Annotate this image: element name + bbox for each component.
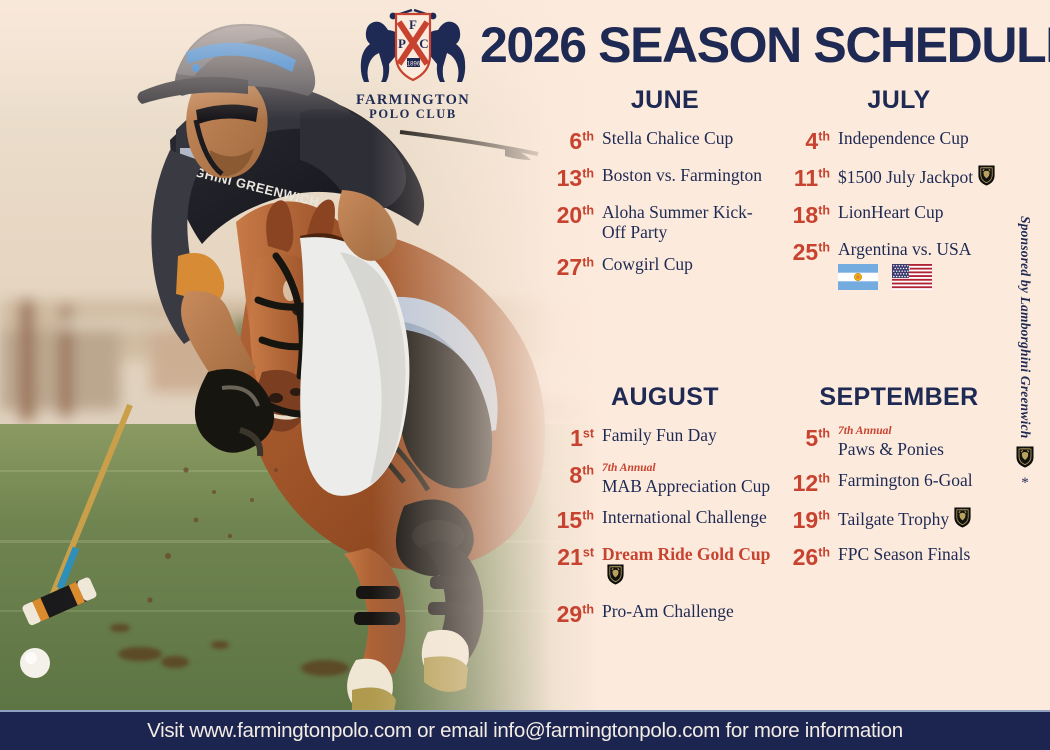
event-title-text: Boston vs. Farmington (602, 165, 762, 185)
event-title-text: International Challenge (602, 507, 767, 527)
event-day-suffix: th (582, 508, 594, 522)
event-day-suffix: th (582, 463, 594, 477)
event-body: Farmington 6-Goal (838, 470, 1012, 490)
event-day-suffix: th (818, 545, 830, 559)
flag-pair (838, 264, 1012, 295)
month-block-august: AUGUST 1stFamily Fun Day8th7th AnnualMAB… (540, 383, 776, 638)
event-day-number: 27 (557, 254, 583, 280)
schedule-event-row: 5th7th AnnualPaws & Ponies (780, 425, 1012, 459)
event-date: 20th (544, 202, 602, 228)
farmington-polo-club-crest: F P C 1896 FARMINGTON POLO CLUB (354, 8, 472, 120)
event-date: 21st (544, 544, 602, 570)
page-title: 2026 SEASON SCHEDULE (480, 20, 1040, 70)
svg-text:Lamborghini: Lamborghini (958, 509, 968, 511)
event-date: 12th (780, 470, 838, 496)
event-title-text: Independence Cup (838, 128, 969, 148)
event-annual-label: 7th Annual (838, 425, 1012, 438)
sponsor-text: Sponsored by Lamborghini Greenwich (1017, 216, 1033, 438)
month-name: JUNE (540, 86, 776, 115)
month-name: SEPTEMBER (776, 383, 1012, 412)
lamborghini-shield-icon: Lamborghini (953, 507, 972, 532)
event-body: Tailgate TrophyLamborghini (838, 507, 1012, 532)
event-title: Independence Cup (838, 128, 1012, 148)
event-title: Paws & Ponies (838, 439, 1012, 459)
event-day-suffix: st (583, 426, 594, 440)
month-name: AUGUST (540, 383, 776, 412)
schedule-event-row: 1stFamily Fun Day (544, 425, 776, 451)
event-title-text: Cowgirl Cup (602, 254, 693, 274)
event-day-number: 1 (570, 425, 583, 451)
event-day-suffix: th (582, 255, 594, 269)
event-list: 1stFamily Fun Day8th7th AnnualMAB Apprec… (540, 425, 776, 627)
event-date: 18th (780, 202, 838, 228)
event-list: 6thStella Chalice Cup13thBoston vs. Farm… (540, 128, 776, 280)
schedule-event-row: 6thStella Chalice Cup (544, 128, 776, 154)
event-date: 5th (780, 425, 838, 451)
event-day-number: 6 (569, 128, 582, 154)
schedule-event-row: 19thTailgate TrophyLamborghini (780, 507, 1012, 533)
schedule-event-row: 29thPro-Am Challenge (544, 601, 776, 627)
event-day-suffix: st (583, 545, 594, 559)
event-body: Boston vs. Farmington (602, 165, 776, 185)
svg-text:Lamborghini: Lamborghini (610, 566, 621, 568)
event-title: Tailgate TrophyLamborghini (838, 507, 1012, 532)
schedule-event-row: 8th7th AnnualMAB Appreciation Cup (544, 462, 776, 496)
event-body: FPC Season Finals (838, 544, 1012, 564)
event-date: 25th (780, 239, 838, 265)
month-block-september: SEPTEMBER 5th7th AnnualPaws & Ponies12th… (776, 383, 1012, 581)
event-day-suffix: th (582, 602, 594, 616)
event-body: Dream Ride Gold CupLamborghini (602, 544, 776, 590)
event-date: 15th (544, 507, 602, 533)
month-block-june: JUNE 6thStella Chalice Cup13thBoston vs.… (540, 86, 776, 291)
event-day-suffix: th (582, 166, 594, 180)
usa-flag (892, 264, 932, 295)
event-day-suffix: th (582, 203, 594, 217)
event-body: Stella Chalice Cup (602, 128, 776, 148)
event-day-number: 20 (557, 202, 583, 228)
event-body: Family Fun Day (602, 425, 776, 445)
event-body: $1500 July JackpotLamborghini (838, 165, 1012, 190)
event-day-number: 18 (793, 202, 819, 228)
event-title-text: Tailgate Trophy (838, 509, 949, 529)
event-list: 5th7th AnnualPaws & Ponies12thFarmington… (776, 425, 1012, 570)
crest-wordmark-line2: POLO CLUB (354, 108, 472, 121)
svg-text:C: C (419, 36, 428, 51)
event-day-number: 8 (569, 462, 582, 488)
event-day-suffix: th (818, 508, 830, 522)
event-title: $1500 July JackpotLamborghini (838, 165, 1012, 190)
event-day-suffix: th (818, 426, 830, 440)
schedule-event-row: 11th$1500 July JackpotLamborghini (780, 165, 1012, 191)
event-title: Boston vs. Farmington (602, 165, 776, 185)
contact-footer-bar: Visit www.farmingtonpolo.com or email in… (0, 710, 1050, 750)
event-title-text: Farmington 6-Goal (838, 470, 973, 490)
argentina-flag (838, 264, 878, 295)
sponsor-credit: Sponsored by Lamborghini Greenwich Lambo… (1008, 216, 1042, 496)
event-title-text: Argentina vs. USA (838, 239, 971, 259)
event-day-number: 12 (793, 470, 819, 496)
event-date: 1st (544, 425, 602, 451)
event-day-number: 4 (805, 128, 818, 154)
event-date: 29th (544, 601, 602, 627)
event-title-text: $1500 July Jackpot (838, 167, 973, 187)
season-schedule-grid: JUNE 6thStella Chalice Cup13thBoston vs.… (540, 86, 1010, 706)
event-title-text: LionHeart Cup (838, 202, 943, 222)
event-body: Aloha Summer Kick-Off Party (602, 202, 776, 243)
event-body: Pro-Am Challenge (602, 601, 776, 621)
event-day-suffix: th (818, 166, 830, 180)
crest-wordmark-line1: FARMINGTON (354, 93, 472, 108)
event-title: Aloha Summer Kick-Off Party (602, 202, 776, 243)
event-day-suffix: th (582, 129, 594, 143)
event-title: Stella Chalice Cup (602, 128, 776, 148)
event-day-number: 15 (557, 507, 583, 533)
event-title: Family Fun Day (602, 425, 776, 445)
schedule-event-row: 25thArgentina vs. USA (780, 239, 1012, 295)
schedule-event-row: 13thBoston vs. Farmington (544, 165, 776, 191)
event-title-text: Pro-Am Challenge (602, 601, 734, 621)
event-body: Argentina vs. USA (838, 239, 1012, 295)
event-body: 7th AnnualPaws & Ponies (838, 425, 1012, 459)
footer-contact-text: Visit www.farmingtonpolo.com or email in… (147, 719, 903, 743)
event-body: Cowgirl Cup (602, 254, 776, 274)
event-title-text: FPC Season Finals (838, 544, 970, 564)
event-day-number: 5 (805, 425, 818, 451)
event-day-suffix: th (818, 129, 830, 143)
month-block-july: JULY 4thIndependence Cup11th$1500 July J… (776, 86, 1012, 306)
svg-text:F: F (409, 17, 417, 32)
month-name: JULY (776, 86, 1012, 115)
schedule-event-row: 27thCowgirl Cup (544, 254, 776, 280)
event-title: Farmington 6-Goal (838, 470, 1012, 490)
event-body: Independence Cup (838, 128, 1012, 148)
event-title-text: Aloha Summer Kick-Off Party (602, 202, 753, 242)
event-body: International Challenge (602, 507, 776, 527)
event-day-number: 21 (557, 544, 583, 570)
schedule-event-row: 20thAloha Summer Kick-Off Party (544, 202, 776, 243)
event-date: 27th (544, 254, 602, 280)
event-body: LionHeart Cup (838, 202, 1012, 222)
schedule-event-row: 21stDream Ride Gold CupLamborghini (544, 544, 776, 590)
svg-text:1896: 1896 (407, 62, 421, 68)
event-list: 4thIndependence Cup11th$1500 July Jackpo… (776, 128, 1012, 295)
lamborghini-shield-icon: Lamborghini (606, 564, 625, 589)
event-title-text: Stella Chalice Cup (602, 128, 733, 148)
event-title: FPC Season Finals (838, 544, 1012, 564)
lamborghini-shield-icon: Lamborghini (1015, 446, 1035, 473)
schedule-event-row: 26thFPC Season Finals (780, 544, 1012, 570)
event-title-text: Family Fun Day (602, 425, 717, 445)
event-day-suffix: th (818, 203, 830, 217)
schedule-event-row: 18thLionHeart Cup (780, 202, 1012, 228)
event-title: Argentina vs. USA (838, 239, 1012, 259)
event-date: 11th (780, 165, 838, 191)
event-date: 4th (780, 128, 838, 154)
svg-text:P: P (398, 36, 406, 51)
event-annual-label: 7th Annual (602, 462, 776, 475)
event-date: 8th (544, 462, 602, 488)
event-day-number: 19 (793, 507, 819, 533)
event-title: Pro-Am Challenge (602, 601, 776, 621)
event-date: 26th (780, 544, 838, 570)
svg-text:Lamborghini: Lamborghini (982, 167, 992, 169)
event-date: 19th (780, 507, 838, 533)
event-title-text: Dream Ride Gold Cup (602, 544, 770, 564)
event-date: 6th (544, 128, 602, 154)
schedule-event-row: 4thIndependence Cup (780, 128, 1012, 154)
event-title: LionHeart Cup (838, 202, 1012, 222)
event-day-number: 26 (793, 544, 819, 570)
lamborghini-shield-icon: Lamborghini (977, 165, 996, 190)
event-title-text: Paws & Ponies (838, 439, 944, 459)
event-title-text: MAB Appreciation Cup (602, 476, 770, 496)
event-day-number: 11 (794, 165, 818, 191)
event-day-number: 13 (557, 165, 583, 191)
schedule-event-row: 15thInternational Challenge (544, 507, 776, 533)
event-title: MAB Appreciation Cup (602, 476, 776, 496)
svg-text:Lamborghini: Lamborghini (1020, 448, 1031, 451)
event-body: 7th AnnualMAB Appreciation Cup (602, 462, 776, 496)
event-date: 13th (544, 165, 602, 191)
event-title: Cowgirl Cup (602, 254, 776, 274)
event-title: Dream Ride Gold CupLamborghini (602, 544, 776, 590)
event-day-suffix: th (818, 471, 830, 485)
footnote-asterisk: * (1021, 476, 1029, 491)
event-day-suffix: th (818, 240, 830, 254)
schedule-event-row: 12thFarmington 6-Goal (780, 470, 1012, 496)
event-day-number: 25 (793, 239, 819, 265)
event-day-number: 29 (557, 601, 583, 627)
event-title: International Challenge (602, 507, 776, 527)
